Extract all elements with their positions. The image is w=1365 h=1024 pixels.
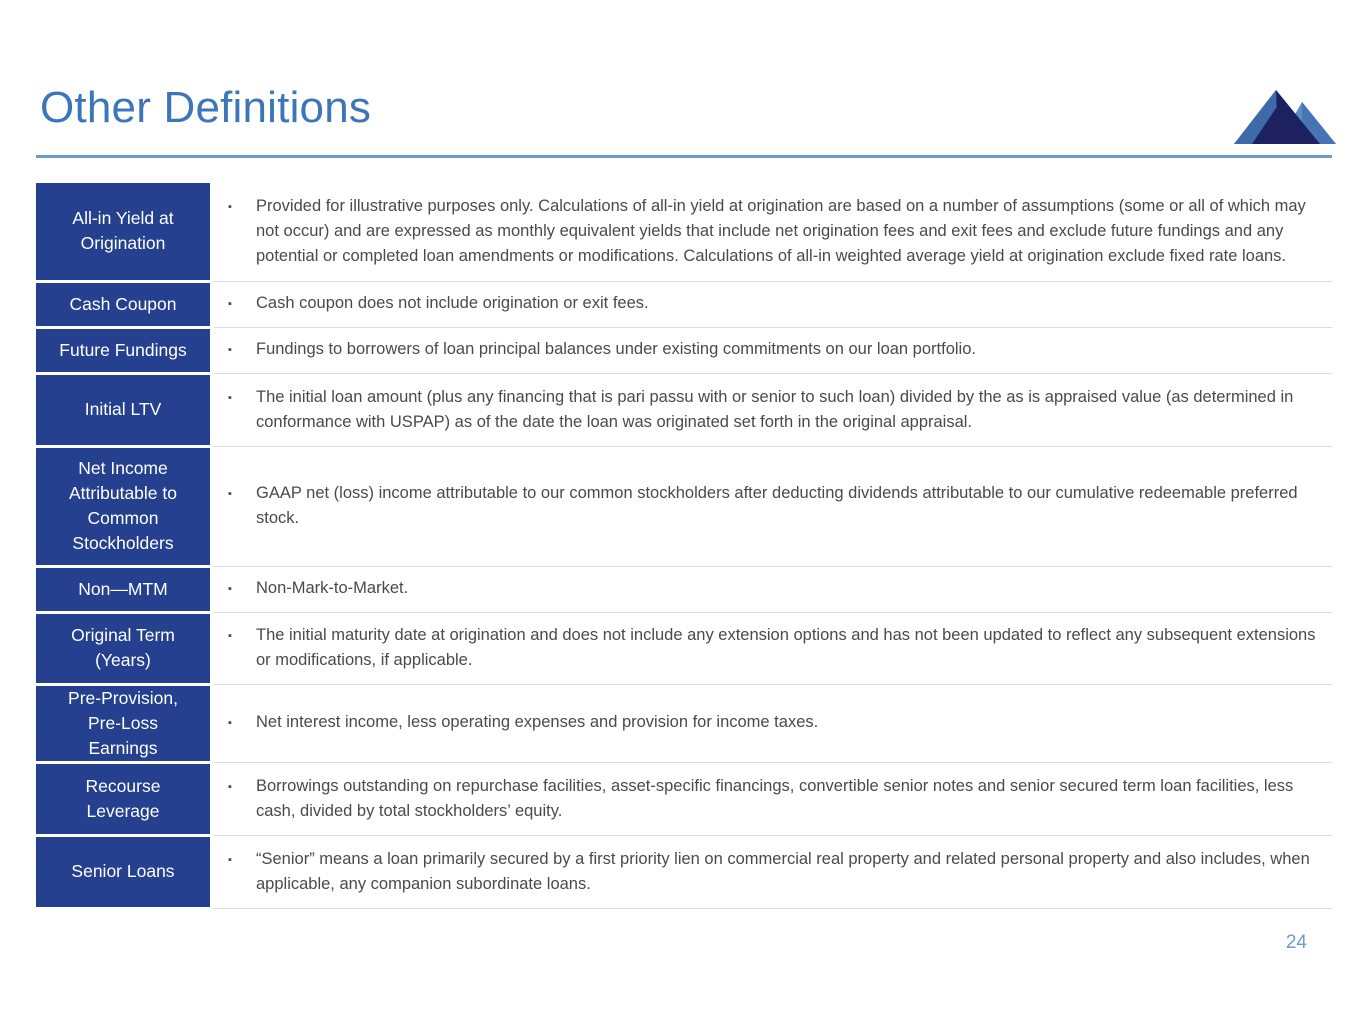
title-divider (36, 155, 1332, 158)
table-row: Senior Loans ▪ “Senior” means a loan pri… (36, 835, 1332, 908)
square-bullet-icon: ▪ (228, 623, 256, 649)
mountain-logo-icon (1232, 86, 1336, 148)
slide-root: Other Definitions All-in Yield at Origin… (0, 0, 1365, 1024)
term-cell: Pre-Provision, Pre-Loss Earnings (36, 684, 210, 762)
definition-text: The initial loan amount (plus any financ… (256, 385, 1324, 435)
term-cell: Recourse Leverage (36, 762, 210, 835)
term-label: Recourse Leverage (36, 774, 210, 824)
table-row: Initial LTV ▪ The initial loan amount (p… (36, 373, 1332, 446)
square-bullet-icon: ▪ (228, 291, 256, 317)
table-row: Pre-Provision, Pre-Loss Earnings ▪ Net i… (36, 684, 1332, 762)
definition-text: GAAP net (loss) income attributable to o… (256, 481, 1324, 531)
term-label: Original Term (Years) (36, 623, 210, 673)
term-cell: Net Income Attributable to Common Stockh… (36, 446, 210, 566)
term-label: All-in Yield at Origination (36, 206, 210, 256)
definition-text: Cash coupon does not include origination… (256, 291, 1324, 316)
definition-cell: ▪ Fundings to borrowers of loan principa… (214, 327, 1332, 373)
table-row: Cash Coupon ▪ Cash coupon does not inclu… (36, 281, 1332, 327)
definition-cell: ▪ The initial maturity date at originati… (214, 612, 1332, 684)
table-row: Non—MTM ▪ Non-Mark-to-Market. (36, 566, 1332, 612)
definition-text: “Senior” means a loan primarily secured … (256, 847, 1324, 897)
table-row: Future Fundings ▪ Fundings to borrowers … (36, 327, 1332, 373)
definitions-table: All-in Yield at Origination ▪ Provided f… (36, 183, 1332, 910)
definition-cell: ▪ “Senior” means a loan primarily secure… (214, 835, 1332, 908)
table-row: All-in Yield at Origination ▪ Provided f… (36, 183, 1332, 281)
definition-cell: ▪ GAAP net (loss) income attributable to… (214, 446, 1332, 566)
definition-cell: ▪ The initial loan amount (plus any fina… (214, 373, 1332, 446)
square-bullet-icon: ▪ (228, 576, 256, 602)
term-label: Non—MTM (36, 577, 210, 602)
table-row: Recourse Leverage ▪ Borrowings outstandi… (36, 762, 1332, 835)
table-row: Original Term (Years) ▪ The initial matu… (36, 612, 1332, 684)
square-bullet-icon: ▪ (228, 481, 256, 507)
term-label: Senior Loans (36, 859, 210, 884)
term-cell: Future Fundings (36, 327, 210, 373)
square-bullet-icon: ▪ (228, 337, 256, 363)
square-bullet-icon: ▪ (228, 194, 256, 220)
definition-cell: ▪ Non-Mark-to-Market. (214, 566, 1332, 612)
definition-cell: ▪ Cash coupon does not include originati… (214, 281, 1332, 327)
term-cell: Non—MTM (36, 566, 210, 612)
definition-text: Fundings to borrowers of loan principal … (256, 337, 1324, 362)
term-label: Net Income Attributable to Common Stockh… (36, 456, 210, 556)
term-label: Future Fundings (36, 338, 210, 363)
term-label: Initial LTV (36, 397, 210, 422)
definition-text: Net interest income, less operating expe… (256, 710, 1324, 735)
definition-text: The initial maturity date at origination… (256, 623, 1324, 673)
term-cell: Initial LTV (36, 373, 210, 446)
square-bullet-icon: ▪ (228, 385, 256, 411)
square-bullet-icon: ▪ (228, 774, 256, 800)
term-cell: All-in Yield at Origination (36, 183, 210, 281)
term-label: Cash Coupon (36, 292, 210, 317)
square-bullet-icon: ▪ (228, 710, 256, 736)
definition-text: Borrowings outstanding on repurchase fac… (256, 774, 1324, 824)
page-title: Other Definitions (40, 84, 371, 132)
definition-text: Provided for illustrative purposes only.… (256, 194, 1324, 269)
term-cell: Cash Coupon (36, 281, 210, 327)
definition-cell: ▪ Provided for illustrative purposes onl… (214, 183, 1332, 281)
term-cell: Original Term (Years) (36, 612, 210, 684)
definition-cell: ▪ Net interest income, less operating ex… (214, 684, 1332, 762)
definition-cell: ▪ Borrowings outstanding on repurchase f… (214, 762, 1332, 835)
square-bullet-icon: ▪ (228, 847, 256, 873)
term-label: Pre-Provision, Pre-Loss Earnings (36, 686, 210, 761)
page-number: 24 (1286, 932, 1307, 954)
term-cell: Senior Loans (36, 835, 210, 908)
definition-text: Non-Mark-to-Market. (256, 576, 1324, 601)
table-row: Net Income Attributable to Common Stockh… (36, 446, 1332, 566)
